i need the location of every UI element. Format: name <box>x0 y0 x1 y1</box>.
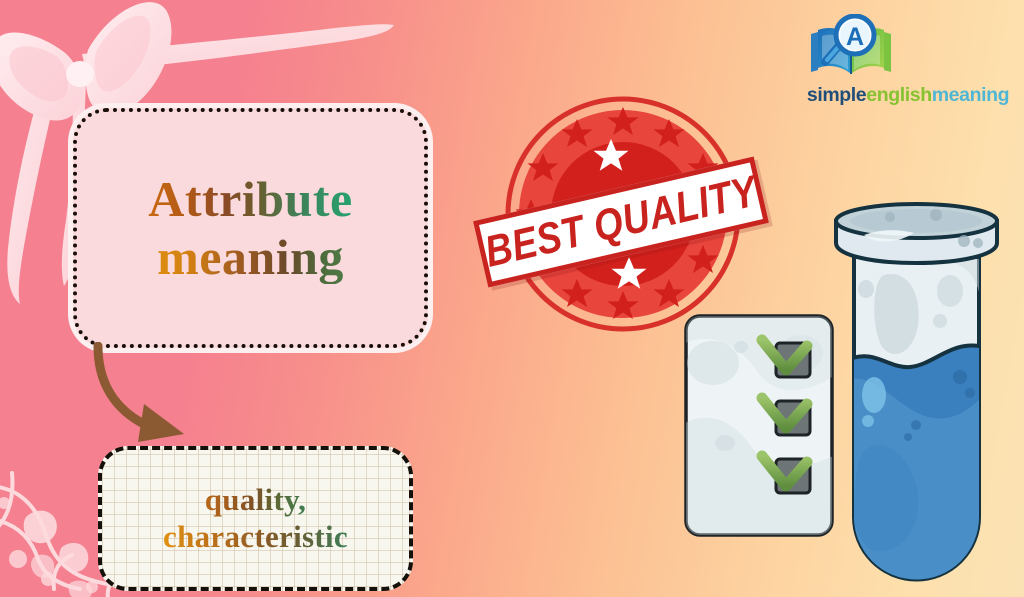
test-tube-icon <box>818 199 1015 597</box>
best-quality-stamp: BEST QUALITY <box>483 96 763 336</box>
definition-card: quality, characteristic <box>98 446 413 591</box>
logo-letter: A <box>846 23 864 51</box>
book-magnifier-icon: A <box>808 14 894 80</box>
logo-word-english: english <box>866 84 931 106</box>
title-line-1: Attribute <box>148 173 352 226</box>
checklist-icon <box>683 313 835 538</box>
book-icon: A <box>808 14 894 80</box>
poster-canvas: { "background": { "gradient_from": "#f58… <box>0 0 1024 597</box>
title-card: Attribute meaning <box>73 108 428 348</box>
logo-wordmark: simpleenglishmeaning <box>800 84 1016 107</box>
definition-line-2: characteristic <box>163 520 348 555</box>
curved-arrow <box>92 342 232 452</box>
curved-arrow-icon <box>92 342 232 452</box>
logo-word-simple: simple <box>807 84 866 106</box>
title-line-2: meaning <box>157 231 344 284</box>
definition-line-1: quality, <box>205 483 306 518</box>
checklist-card <box>683 313 835 538</box>
test-tube <box>818 199 1015 597</box>
site-logo[interactable]: A simpleenglishmeaning <box>800 14 1016 110</box>
logo-word-meaning: meaning <box>932 84 1009 106</box>
